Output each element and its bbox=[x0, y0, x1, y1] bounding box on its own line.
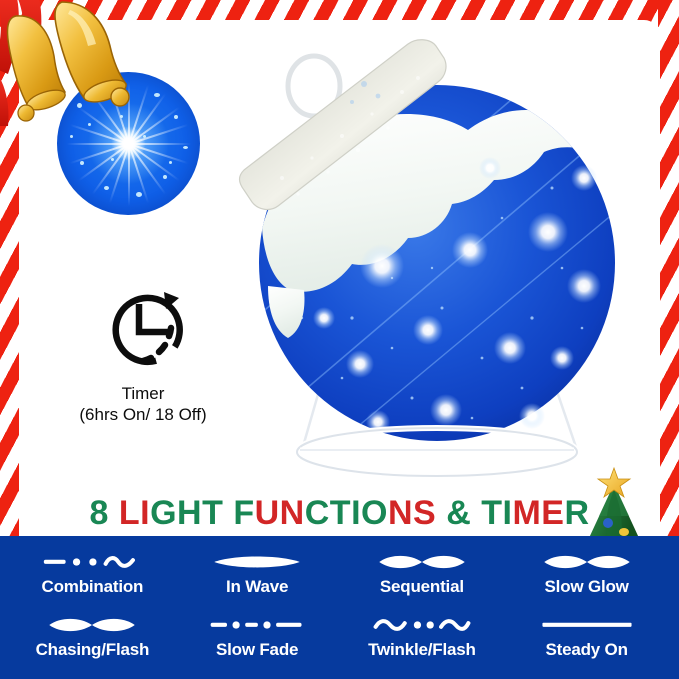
headline-letter: M bbox=[512, 494, 541, 532]
headline-letter: O bbox=[361, 494, 388, 532]
clock-timer-icon bbox=[84, 278, 202, 378]
headline-letter: N bbox=[280, 494, 305, 532]
headline-letter: & bbox=[446, 494, 471, 532]
headline-letter: T bbox=[330, 494, 351, 532]
function-label: Slow Glow bbox=[545, 577, 629, 597]
function-label: Combination bbox=[42, 577, 144, 597]
headline-letter: T bbox=[481, 494, 502, 532]
headline-letter: 8 bbox=[89, 494, 108, 532]
double-lens-icon bbox=[42, 612, 142, 638]
double-lens-icon bbox=[537, 549, 637, 575]
function-label: Twinkle/Flash bbox=[368, 640, 476, 660]
headline-letter: C bbox=[305, 494, 330, 532]
headline-letter bbox=[436, 494, 446, 532]
headline-letter bbox=[223, 494, 233, 532]
headline-letter: U bbox=[255, 494, 280, 532]
wave-dot-dot-wave-icon bbox=[372, 612, 472, 638]
product-infographic: Timer (6hrs On/ 18 Off) bbox=[0, 0, 679, 679]
timer-sub-label: (6hrs On/ 18 Off) bbox=[38, 405, 248, 426]
light-functions-grid: Combination In Wave Sequential bbox=[0, 536, 679, 679]
headline-letter: S bbox=[413, 494, 436, 532]
function-label: Slow Fade bbox=[216, 640, 298, 660]
dash-dot-dash-dot-dash-icon bbox=[207, 612, 307, 638]
function-in-wave[interactable]: In Wave bbox=[175, 542, 340, 605]
function-steady-on[interactable]: Steady On bbox=[504, 605, 669, 668]
function-twinkle-flash[interactable]: Twinkle/Flash bbox=[340, 605, 505, 668]
single-lens-icon bbox=[207, 549, 307, 575]
timer-label: Timer bbox=[38, 384, 248, 405]
double-lens-icon bbox=[372, 549, 472, 575]
headline-letter: I bbox=[351, 494, 361, 532]
headline-letter: N bbox=[388, 494, 413, 532]
function-slow-fade[interactable]: Slow Fade bbox=[175, 605, 340, 668]
function-chasing-flash[interactable]: Chasing/Flash bbox=[10, 605, 175, 668]
headline-letter: H bbox=[177, 494, 202, 532]
gold-bells-icon bbox=[0, 0, 152, 129]
christmas-tree-icon bbox=[577, 466, 651, 546]
timer-feature-block: Timer (6hrs On/ 18 Off) bbox=[38, 278, 248, 425]
headline-letter: I bbox=[140, 494, 150, 532]
headline-letter: L bbox=[119, 494, 140, 532]
function-label: Steady On bbox=[545, 640, 627, 660]
function-label: Chasing/Flash bbox=[36, 640, 150, 660]
function-label: Sequential bbox=[380, 577, 464, 597]
solid-bar-icon bbox=[537, 612, 637, 638]
headline-letter: I bbox=[502, 494, 512, 532]
ornament-product-image bbox=[232, 18, 632, 488]
dash-dot-dot-wave-icon bbox=[42, 549, 142, 575]
headline-letter: G bbox=[150, 494, 177, 532]
function-slow-glow[interactable]: Slow Glow bbox=[504, 542, 669, 605]
headline-letter bbox=[109, 494, 119, 532]
light-functions-panel: Combination In Wave Sequential bbox=[0, 536, 679, 679]
function-combination[interactable]: Combination bbox=[10, 542, 175, 605]
headline-letter: T bbox=[202, 494, 223, 532]
headline-letter: E bbox=[541, 494, 564, 532]
function-sequential[interactable]: Sequential bbox=[340, 542, 505, 605]
function-label: In Wave bbox=[226, 577, 288, 597]
headline-letter bbox=[471, 494, 481, 532]
headline-letter: F bbox=[233, 494, 254, 532]
